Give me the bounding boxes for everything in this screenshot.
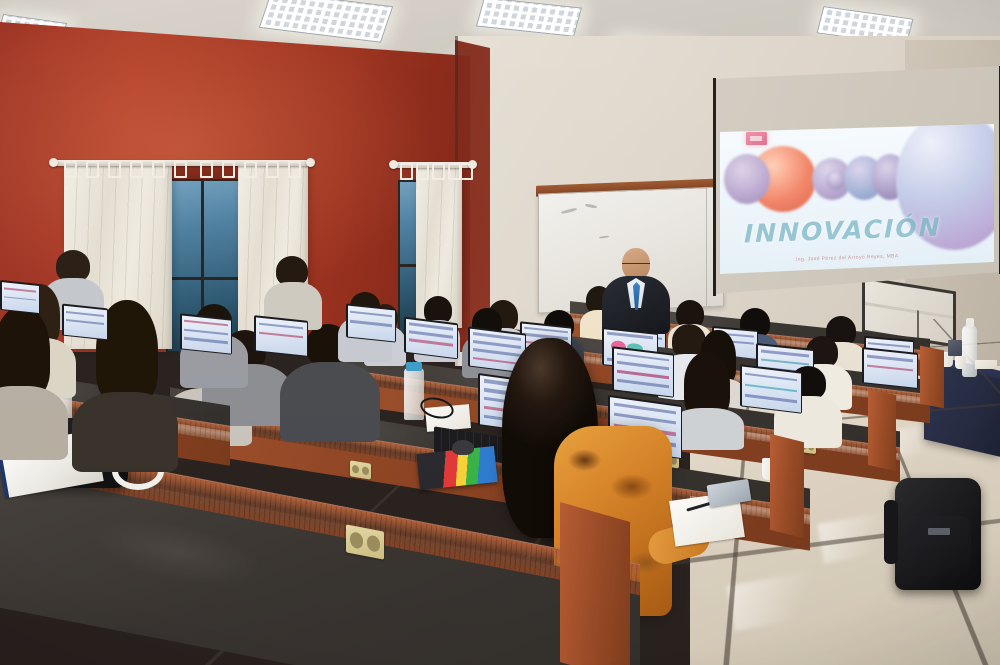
- napkin-stack: [975, 360, 997, 369]
- slide-sphere: [826, 170, 846, 190]
- torso: [0, 386, 68, 460]
- glasses-icon: [622, 263, 650, 269]
- slide-byline: Ing. José Pérez del Arroyo Reyes, MBA: [796, 253, 899, 263]
- water-bottle: [962, 325, 977, 377]
- mouse: [452, 440, 474, 455]
- recessed-fluorescent-light: [476, 0, 582, 37]
- desk-end-panel: [770, 434, 804, 538]
- bottle-cap: [406, 362, 422, 371]
- slide-sphere: [724, 154, 770, 204]
- slide-title: INNOVACIÓN: [744, 213, 942, 249]
- desk-tier-1: [0, 500, 640, 665]
- presenter: [602, 248, 670, 336]
- backpack-pocket: [903, 516, 971, 576]
- hair: [0, 306, 50, 398]
- backpack-strap: [884, 500, 898, 564]
- paper-cup: [955, 356, 966, 369]
- screen-edge-cable-left: [713, 78, 716, 296]
- classroom-photo: INNOVACIÓN Ing. José Pérez del Arroyo Re…: [0, 0, 1000, 665]
- backpack-logo: [928, 528, 950, 535]
- slide-logo-icon: [746, 132, 767, 145]
- water-bottle-cap: [966, 318, 974, 327]
- cup-holder: [948, 340, 962, 356]
- desk-end-panel: [868, 389, 896, 471]
- power-outlet: [350, 460, 371, 479]
- recessed-fluorescent-light: [259, 0, 393, 43]
- projection-screen: INNOVACIÓN Ing. José Pérez del Arroyo Re…: [704, 66, 1000, 296]
- desk-end-panel: [560, 502, 630, 665]
- water-bottle: [404, 368, 424, 420]
- torso: [72, 392, 178, 472]
- curtain-tabs: [60, 161, 308, 175]
- curtain-tabs: [398, 163, 470, 177]
- desk-end-panel: [920, 346, 944, 409]
- torso: [280, 362, 380, 442]
- projected-slide: INNOVACIÓN Ing. José Pérez del Arroyo Re…: [720, 124, 994, 274]
